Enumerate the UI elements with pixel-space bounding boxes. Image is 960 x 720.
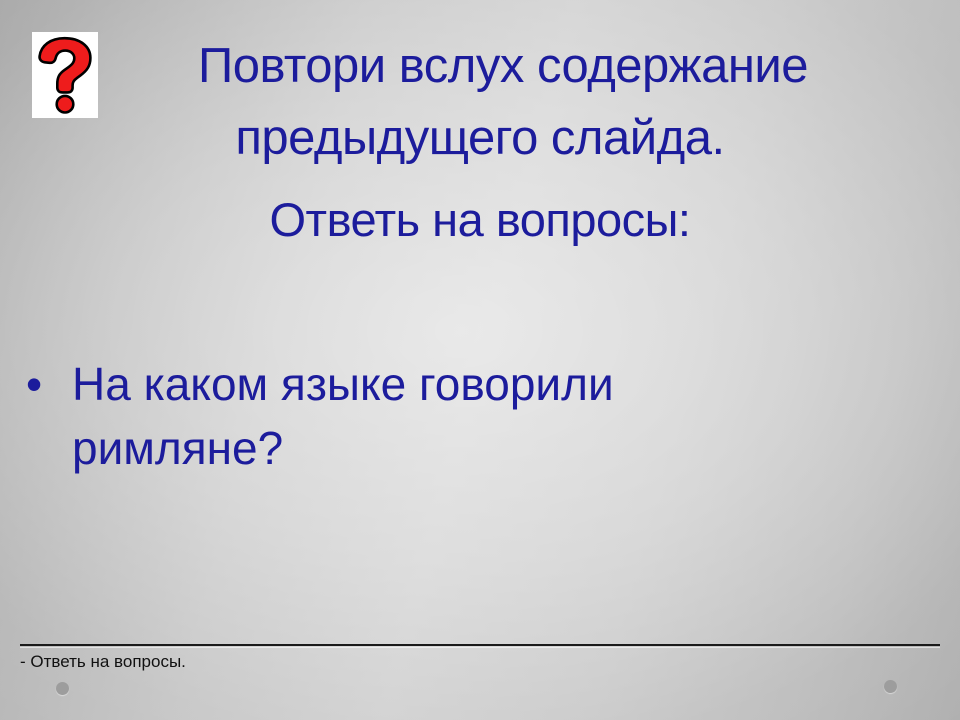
slide-title: Повтори вслух содержание предыдущего сла… — [0, 30, 960, 256]
footer-divider-highlight — [20, 647, 940, 648]
footer-dot-left-icon — [56, 682, 69, 695]
slide-body: • На каком языке говорили римляне? — [18, 352, 918, 480]
list-item: • На каком языке говорили римляне? — [18, 352, 918, 480]
footer-note: - Ответь на вопросы. — [20, 650, 186, 674]
footer-divider — [20, 644, 940, 646]
slide-canvas: Повтори вслух содержание предыдущего сла… — [0, 0, 960, 720]
bullet-text: На каком языке говорили римляне? — [72, 352, 752, 480]
footer-dot-right-icon — [884, 680, 897, 693]
title-line-3: Ответь на вопросы: — [0, 184, 960, 256]
bullet-marker-icon: • — [18, 352, 72, 416]
title-line-2: предыдущего слайда. — [0, 102, 960, 174]
title-line-1: Повтори вслух содержание — [0, 30, 960, 102]
